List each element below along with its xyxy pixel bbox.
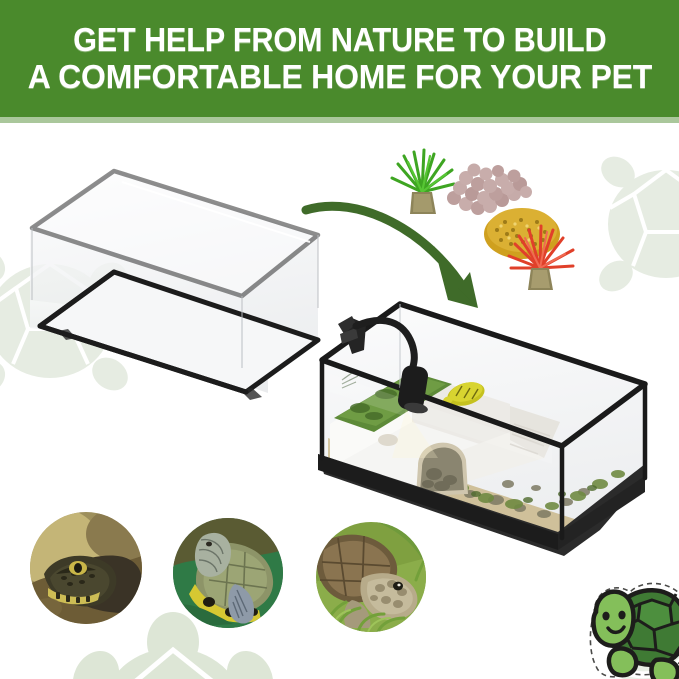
banner-underline xyxy=(0,117,679,123)
product-infographic: GET HELP FROM NATURE TO BUILD A COMFORTA… xyxy=(0,0,679,679)
photo-tortoise-in-grass xyxy=(316,522,426,632)
header-banner: GET HELP FROM NATURE TO BUILD A COMFORTA… xyxy=(0,0,679,117)
red-anemone-plant-decoration xyxy=(503,224,577,296)
banner-line-1: GET HELP FROM NATURE TO BUILD xyxy=(73,21,606,59)
photo-yellow-bellied-turtle xyxy=(173,518,283,628)
photo-red-eared-slider-head xyxy=(30,512,142,624)
banner-line-2: A COMFORTABLE HOME FOR YOUR PET xyxy=(27,59,651,97)
watermark-turtle-right xyxy=(586,142,679,302)
decoration-cluster xyxy=(378,140,583,295)
furnished-turtle-tank xyxy=(300,288,652,560)
cartoon-turtle-sticker xyxy=(556,562,679,679)
